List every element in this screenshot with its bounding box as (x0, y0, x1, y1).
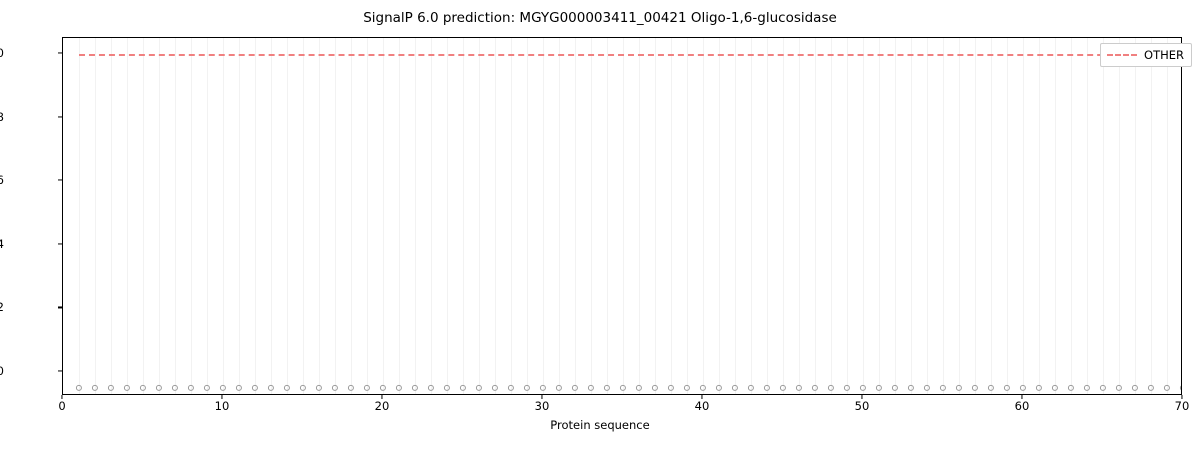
residue-marker (972, 385, 978, 391)
gridline-vertical (271, 38, 272, 394)
gridline-vertical (1119, 38, 1120, 394)
residue-marker (908, 385, 914, 391)
residue-marker (108, 385, 114, 391)
residue-marker (380, 385, 386, 391)
gridline-vertical (719, 38, 720, 394)
residue-marker (828, 385, 834, 391)
gridline-vertical (191, 38, 192, 394)
residue-marker (428, 385, 434, 391)
y-tick-label: 0.0 (0, 364, 4, 378)
gridline-vertical (655, 38, 656, 394)
residue-marker (444, 385, 450, 391)
residue-marker (1068, 385, 1074, 391)
series-other-line (79, 54, 1182, 56)
gridline-vertical (1071, 38, 1072, 394)
gridline-vertical (847, 38, 848, 394)
gridline-vertical (431, 38, 432, 394)
residue-marker (332, 385, 338, 391)
residue-marker (348, 385, 354, 391)
y-tick-label: 1.0 (0, 46, 4, 60)
residue-marker (1116, 385, 1122, 391)
residue-marker (412, 385, 418, 391)
residue-marker (876, 385, 882, 391)
residue-marker (588, 385, 594, 391)
residue-marker (460, 385, 466, 391)
chart-title: SignalP 6.0 prediction: MGYG000003411_00… (0, 10, 1200, 26)
gridline-vertical (399, 38, 400, 394)
residue-marker (556, 385, 562, 391)
gridline-vertical (127, 38, 128, 394)
x-tick-mark (861, 395, 862, 399)
gridline-vertical (479, 38, 480, 394)
gridline-vertical (703, 38, 704, 394)
residue-marker (1132, 385, 1138, 391)
residue-marker (92, 385, 98, 391)
residue-marker (764, 385, 770, 391)
gridline-vertical (175, 38, 176, 394)
x-tick-label: 70 (1175, 399, 1190, 413)
gridline-vertical (463, 38, 464, 394)
residue-marker (508, 385, 514, 391)
y-tick-label: 0.2 (0, 300, 4, 314)
gridline-vertical (447, 38, 448, 394)
residue-marker (652, 385, 658, 391)
residue-marker (668, 385, 674, 391)
residue-marker (236, 385, 242, 391)
residue-marker (716, 385, 722, 391)
residue-marker (748, 385, 754, 391)
gridline-vertical (79, 38, 80, 394)
residue-marker (636, 385, 642, 391)
residue-marker (396, 385, 402, 391)
x-tick-mark (221, 395, 222, 399)
x-tick-label: 60 (1015, 399, 1030, 413)
vertical-gridlines (63, 38, 1181, 394)
gridline-vertical (767, 38, 768, 394)
x-tick-mark (1021, 395, 1022, 399)
x-tick-label: 40 (695, 399, 710, 413)
residue-marker (1036, 385, 1042, 391)
residue-marker (780, 385, 786, 391)
gridline-vertical (383, 38, 384, 394)
gridline-vertical (831, 38, 832, 394)
residue-marker (924, 385, 930, 391)
gridline-vertical (735, 38, 736, 394)
x-tick-label: 50 (855, 399, 870, 413)
gridline-vertical (959, 38, 960, 394)
gridline-vertical (943, 38, 944, 394)
gridline-vertical (527, 38, 528, 394)
residue-marker (572, 385, 578, 391)
gridline-vertical (1039, 38, 1040, 394)
residue-marker (220, 385, 226, 391)
residue-marker (1020, 385, 1026, 391)
residue-marker (172, 385, 178, 391)
x-tick-mark (541, 395, 542, 399)
gridline-vertical (415, 38, 416, 394)
gridline-vertical (239, 38, 240, 394)
gridline-vertical (927, 38, 928, 394)
gridline-vertical (1103, 38, 1104, 394)
gridline-vertical (223, 38, 224, 394)
gridline-vertical (511, 38, 512, 394)
gridline-vertical (1151, 38, 1152, 394)
residue-marker (316, 385, 322, 391)
gridline-vertical (671, 38, 672, 394)
x-tick-mark (381, 395, 382, 399)
residue-marker (188, 385, 194, 391)
gridline-vertical (287, 38, 288, 394)
legend-label-other: OTHER (1144, 48, 1184, 62)
residue-marker (812, 385, 818, 391)
residue-marker (796, 385, 802, 391)
gridline-vertical (1023, 38, 1024, 394)
residue-marker (860, 385, 866, 391)
gridline-vertical (639, 38, 640, 394)
gridline-vertical (559, 38, 560, 394)
residue-marker (492, 385, 498, 391)
y-tick-label: 0.4 (0, 237, 4, 251)
gridline-vertical (895, 38, 896, 394)
residue-marker (1180, 385, 1182, 391)
residue-marker (204, 385, 210, 391)
plot-area: MKNGNLSFYEIYPTSFYDSNGDGIGDIKGIIKKLDYVKSL… (62, 37, 1182, 395)
residue-marker (476, 385, 482, 391)
residue-marker (732, 385, 738, 391)
residue-marker (844, 385, 850, 391)
gridline-vertical (591, 38, 592, 394)
gridline-vertical (607, 38, 608, 394)
residue-marker (76, 385, 82, 391)
gridline-vertical (143, 38, 144, 394)
gridline-vertical (367, 38, 368, 394)
gridline-vertical (799, 38, 800, 394)
y-tick-label: 0.8 (0, 110, 4, 124)
gridline-vertical (1167, 38, 1168, 394)
residue-marker (1004, 385, 1010, 391)
residue-marker (1052, 385, 1058, 391)
gridline-vertical (863, 38, 864, 394)
gridline-vertical (335, 38, 336, 394)
residue-marker (604, 385, 610, 391)
residue-marker (1100, 385, 1106, 391)
gridline-vertical (911, 38, 912, 394)
gridline-vertical (623, 38, 624, 394)
residue-marker (268, 385, 274, 391)
gridline-vertical (207, 38, 208, 394)
gridline-vertical (1087, 38, 1088, 394)
gridline-vertical (159, 38, 160, 394)
residue-marker (124, 385, 130, 391)
x-tick-mark (701, 395, 702, 399)
x-tick-label: 10 (215, 399, 230, 413)
residue-marker (140, 385, 146, 391)
gridline-vertical (255, 38, 256, 394)
gridline-vertical (991, 38, 992, 394)
gridline-vertical (303, 38, 304, 394)
gridline-vertical (1055, 38, 1056, 394)
residue-marker (540, 385, 546, 391)
gridline-vertical (351, 38, 352, 394)
gridline-vertical (975, 38, 976, 394)
gridline-vertical (111, 38, 112, 394)
residue-marker (940, 385, 946, 391)
residue-marker (892, 385, 898, 391)
residue-marker (1164, 385, 1170, 391)
gridline-vertical (879, 38, 880, 394)
residue-marker (956, 385, 962, 391)
residue-marker (620, 385, 626, 391)
gridline-vertical (1135, 38, 1136, 394)
residue-marker (524, 385, 530, 391)
legend[interactable]: OTHER (1100, 43, 1192, 67)
gridline-vertical (319, 38, 320, 394)
gridline-vertical (687, 38, 688, 394)
residue-marker (1084, 385, 1090, 391)
x-tick-mark (61, 395, 62, 399)
signalp-prediction-figure: SignalP 6.0 prediction: MGYG000003411_00… (0, 0, 1200, 450)
gridline-vertical (783, 38, 784, 394)
x-tick-label: 30 (535, 399, 550, 413)
residue-marker (284, 385, 290, 391)
residue-marker (1148, 385, 1154, 391)
residue-marker (684, 385, 690, 391)
y-tick-label: 0.6 (0, 173, 4, 187)
gridline-vertical (751, 38, 752, 394)
residue-marker (252, 385, 258, 391)
x-tick-label: 0 (58, 399, 65, 413)
gridline-vertical (575, 38, 576, 394)
x-tick-label: 20 (375, 399, 390, 413)
residue-marker (156, 385, 162, 391)
residue-marker (300, 385, 306, 391)
gridline-vertical (495, 38, 496, 394)
x-tick-mark (1181, 395, 1182, 399)
residue-marker (364, 385, 370, 391)
residue-marker (700, 385, 706, 391)
x-axis-label: Protein sequence (0, 418, 1200, 432)
legend-swatch-other (1107, 54, 1137, 56)
residue-marker (988, 385, 994, 391)
gridline-vertical (95, 38, 96, 394)
gridline-vertical (815, 38, 816, 394)
gridline-vertical (1007, 38, 1008, 394)
gridline-vertical (543, 38, 544, 394)
